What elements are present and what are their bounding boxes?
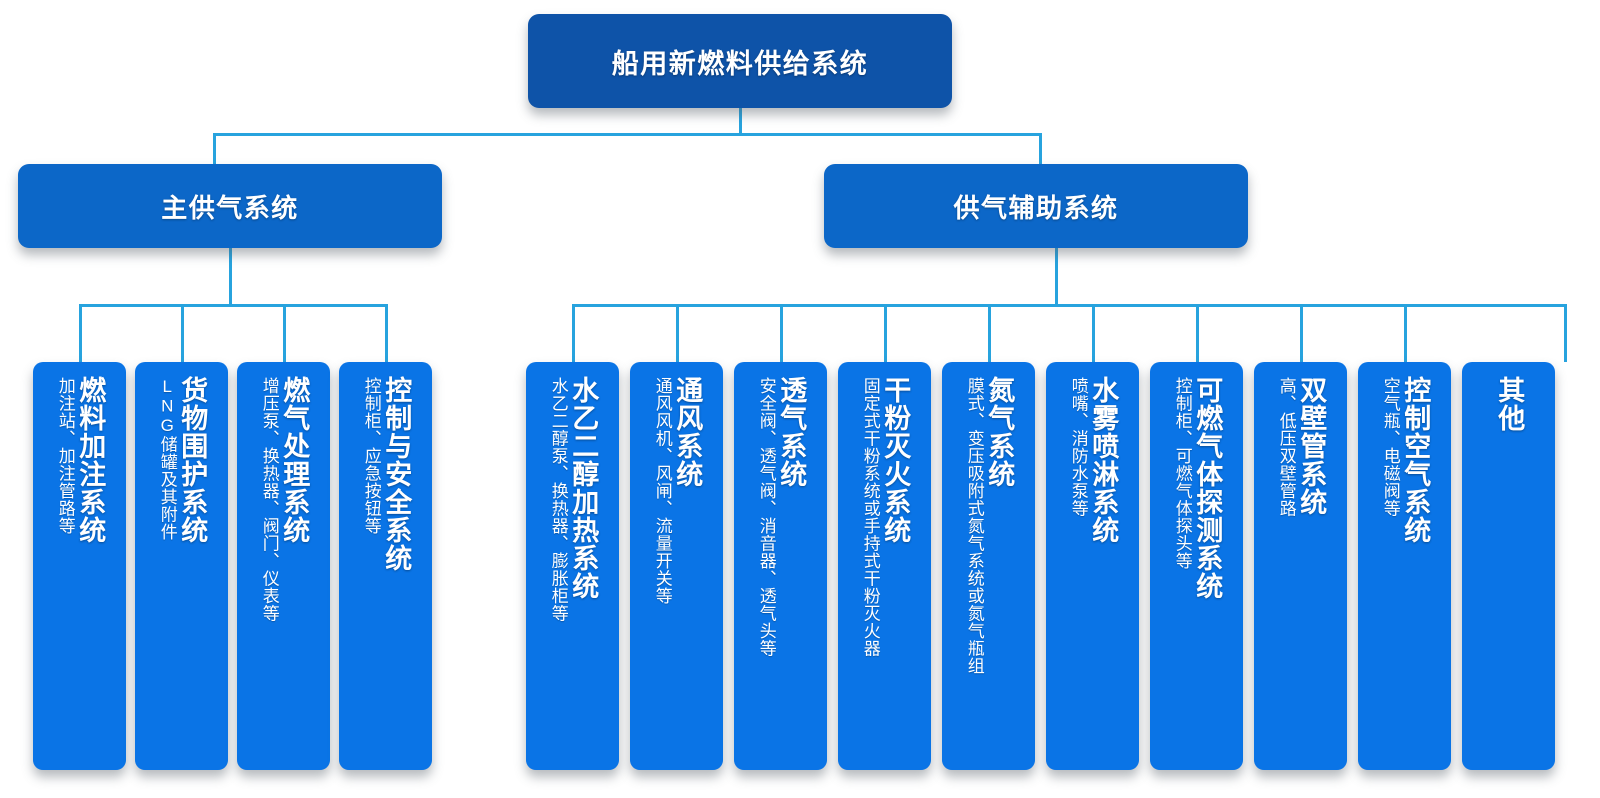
leaf-text-group: 燃料加注系统 加注站、加注管路等 [33, 376, 126, 764]
leaf-text-group: 双壁管系统 高、低压双壁管路 [1254, 376, 1347, 764]
node-leaf-double-wall-pipe-system[interactable]: 双壁管系统 高、低压双壁管路 [1254, 362, 1347, 770]
leaf-text-group: 燃气处理系统 增压泵、换热器、阀门、仪表等 [237, 376, 330, 764]
leaf-title: 通风系统 [673, 376, 701, 488]
connector-leaf-drop-1-5 [1092, 304, 1095, 362]
leaf-subtitle: 通风风机、风闸、流量开关等 [653, 377, 671, 605]
connector-branch-1-bus [572, 304, 1567, 307]
node-branch-gas-supply-auxiliary[interactable]: 供气辅助系统 [824, 164, 1248, 248]
node-leaf-control-and-safety-system[interactable]: 控制与安全系统 控制柜、应急按钮等 [339, 362, 432, 770]
leaf-title: 货物围护系统 [178, 376, 206, 544]
connector-leaf-drop-1-4 [988, 304, 991, 362]
leaf-title: 双壁管系统 [1297, 376, 1325, 516]
node-leaf-dry-powder-fire-extinguishing-system[interactable]: 干粉灭火系统 固定式干粉系统或手持式干粉灭火器 [838, 362, 931, 770]
connector-branch-0-stem [229, 248, 232, 306]
connector-level2-bus [213, 133, 1042, 136]
connector-leaf-drop-0-3 [385, 304, 388, 362]
leaf-text-group: 水雾喷淋系统 喷嘴、消防水泵等 [1046, 376, 1139, 764]
leaf-title: 透气系统 [777, 376, 805, 488]
leaf-text-group: 其他 [1462, 376, 1555, 764]
connector-root-stem [739, 108, 742, 136]
leaf-subtitle: 喷嘴、消防水泵等 [1069, 377, 1087, 517]
leaf-title: 水乙二醇加热系统 [569, 376, 597, 600]
leaf-title: 控制空气系统 [1401, 376, 1429, 544]
node-branch-label: 主供气系统 [161, 188, 299, 225]
connector-branch-1-stem [1055, 248, 1058, 306]
leaf-title: 燃气处理系统 [280, 376, 308, 544]
leaf-subtitle: 水乙二醇泵、换热器、膨胀柜等 [549, 377, 567, 622]
connector-leaf-drop-1-0 [572, 304, 575, 362]
leaf-text-group: 控制空气系统 空气瓶、电磁阀等 [1358, 376, 1451, 764]
leaf-text-group: 控制与安全系统 控制柜、应急按钮等 [339, 376, 432, 764]
leaf-text-group: 干粉灭火系统 固定式干粉系统或手持式干粉灭火器 [838, 376, 931, 764]
leaf-subtitle: 膜式、变压吸附式氮气系统或氮气瓶组 [965, 377, 983, 675]
leaf-title: 干粉灭火系统 [881, 376, 909, 544]
connector-branch-0-bus [79, 304, 387, 307]
node-leaf-fuel-bunkering-system[interactable]: 燃料加注系统 加注站、加注管路等 [33, 362, 126, 770]
connector-leaf-drop-1-1 [676, 304, 679, 362]
leaf-title: 控制与安全系统 [382, 376, 410, 572]
leaf-title: 可燃气体探测系统 [1193, 376, 1221, 600]
leaf-text-group: 透气系统 安全阀、透气阀、消音器、透气头等 [734, 376, 827, 764]
diagram-canvas: 船用新燃料供给系统 主供气系统 供气辅助系统 燃料加注系统 加注站、加注管路等 … [0, 0, 1600, 798]
connector-leaf-drop-0-1 [181, 304, 184, 362]
leaf-text-group: 通风系统 通风风机、风闸、流量开关等 [630, 376, 723, 764]
node-leaf-cargo-containment-system[interactable]: 货物围护系统 LNG储罐及其附件 [135, 362, 228, 770]
node-branch-label: 供气辅助系统 [953, 188, 1118, 225]
node-branch-main-gas-supply[interactable]: 主供气系统 [18, 164, 442, 248]
leaf-title: 其他 [1495, 376, 1523, 432]
connector-drop-branch-1 [1039, 133, 1042, 164]
connector-leaf-drop-1-3 [884, 304, 887, 362]
leaf-text-group: 氮气系统 膜式、变压吸附式氮气系统或氮气瓶组 [942, 376, 1035, 764]
connector-leaf-drop-1-6 [1196, 304, 1199, 362]
node-leaf-gas-treatment-system[interactable]: 燃气处理系统 增压泵、换热器、阀门、仪表等 [237, 362, 330, 770]
leaf-text-group: 水乙二醇加热系统 水乙二醇泵、换热器、膨胀柜等 [526, 376, 619, 764]
node-leaf-water-mist-spray-system[interactable]: 水雾喷淋系统 喷嘴、消防水泵等 [1046, 362, 1139, 770]
connector-leaf-drop-1-2 [780, 304, 783, 362]
connector-leaf-drop-1-7 [1300, 304, 1303, 362]
node-leaf-other[interactable]: 其他 [1462, 362, 1555, 770]
connector-leaf-drop-0-2 [283, 304, 286, 362]
leaf-subtitle: 增压泵、换热器、阀门、仪表等 [260, 377, 278, 622]
leaf-text-group: 货物围护系统 LNG储罐及其附件 [135, 376, 228, 764]
leaf-subtitle: 加注站、加注管路等 [56, 377, 74, 535]
connector-drop-branch-0 [213, 133, 216, 164]
connector-leaf-drop-1-9 [1564, 304, 1567, 362]
leaf-subtitle: 高、低压双壁管路 [1277, 377, 1295, 517]
node-leaf-combustible-gas-detection-system[interactable]: 可燃气体探测系统 控制柜、可燃气体探头等 [1150, 362, 1243, 770]
node-leaf-nitrogen-system[interactable]: 氮气系统 膜式、变压吸附式氮气系统或氮气瓶组 [942, 362, 1035, 770]
leaf-title: 氮气系统 [985, 376, 1013, 488]
leaf-subtitle: 控制柜、应急按钮等 [362, 377, 380, 535]
node-leaf-ventilation-system[interactable]: 通风系统 通风风机、风闸、流量开关等 [630, 362, 723, 770]
leaf-subtitle: 固定式干粉系统或手持式干粉灭火器 [861, 377, 879, 657]
connector-leaf-drop-0-0 [79, 304, 82, 362]
leaf-subtitle: LNG储罐及其附件 [158, 377, 176, 541]
leaf-title: 水雾喷淋系统 [1089, 376, 1117, 544]
leaf-text-group: 可燃气体探测系统 控制柜、可燃气体探头等 [1150, 376, 1243, 764]
node-root-label: 船用新燃料供给系统 [612, 42, 869, 81]
node-leaf-water-glycol-heating-system[interactable]: 水乙二醇加热系统 水乙二醇泵、换热器、膨胀柜等 [526, 362, 619, 770]
node-leaf-control-air-system[interactable]: 控制空气系统 空气瓶、电磁阀等 [1358, 362, 1451, 770]
leaf-subtitle: 空气瓶、电磁阀等 [1381, 377, 1399, 517]
connector-leaf-drop-1-8 [1404, 304, 1407, 362]
leaf-subtitle: 控制柜、可燃气体探头等 [1173, 377, 1191, 570]
leaf-subtitle: 安全阀、透气阀、消音器、透气头等 [757, 377, 775, 657]
node-leaf-venting-system[interactable]: 透气系统 安全阀、透气阀、消音器、透气头等 [734, 362, 827, 770]
node-root[interactable]: 船用新燃料供给系统 [528, 14, 952, 108]
leaf-title: 燃料加注系统 [76, 376, 104, 544]
